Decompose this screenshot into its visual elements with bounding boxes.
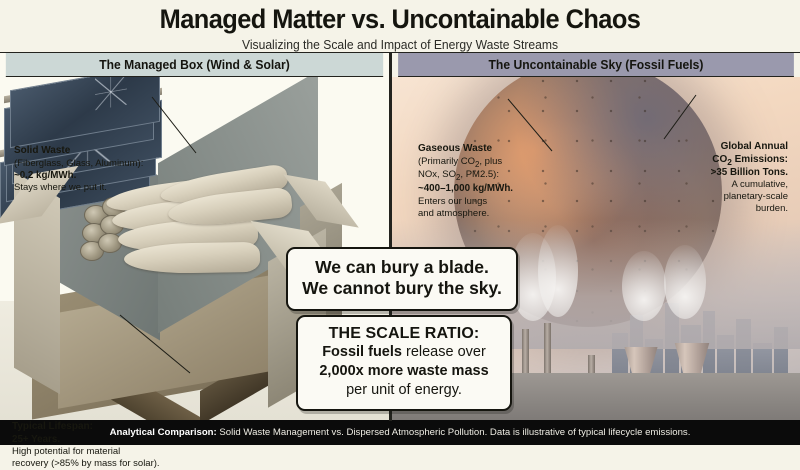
footer-text: Solid Waste Management vs. Dispersed Atm… — [217, 427, 691, 438]
callout-ratio-line2: 2,000x more waste mass — [306, 362, 502, 381]
annotation-line-part: , plus — [479, 156, 502, 167]
annotation-line: (Fiberglass, Glass, Aluminum): — [14, 158, 194, 170]
callout-ratio-line2-bold: 2,000x more waste mass — [319, 363, 488, 379]
annotation-heading: Typical Lifespan: — [12, 421, 227, 434]
annotation-line: Stays where we put it. — [14, 182, 194, 194]
title-block: Managed Matter vs. Uncontainable Chaos V… — [0, 0, 800, 52]
annotation-line: Enters our lungs — [418, 196, 568, 208]
callout-ratio-title: THE SCALE RATIO: — [306, 325, 502, 343]
annotation-line-part: NOx, SO — [418, 169, 456, 180]
callout-quote-line1: We can bury a blade. — [294, 257, 510, 278]
annotation-gaseous-waste: Gaseous Waste (Primarily CO2, plus NOx, … — [418, 143, 568, 220]
annotation-heading: CO2 Emissions: — [648, 154, 788, 167]
annotation-value: >35 Billion Tons. — [648, 167, 788, 179]
annotation-line-part: CO — [712, 154, 727, 165]
callout-scale-ratio: THE SCALE RATIO: Fossil fuels release ov… — [296, 315, 512, 411]
annotation-value: ~0.2 kg/MWh. — [14, 170, 194, 182]
callout-quote: We can bury a blade. We cannot bury the … — [286, 247, 518, 311]
comparison-panels: The Managed Box (Wind & Solar) — [0, 52, 800, 420]
annotation-line: A cumulative, — [648, 179, 788, 191]
annotation-value: ~400–1,000 kg/MWh. — [418, 183, 568, 195]
leader-lifespan — [120, 315, 190, 373]
annotation-lifespan: Typical Lifespan: 25+ Years. High potent… — [12, 421, 227, 470]
annotation-heading: Solid Waste — [14, 145, 194, 158]
callout-ratio-line1-bold: Fossil fuels — [322, 344, 402, 360]
page-subtitle: Visualizing the Scale and Impact of Ener… — [12, 38, 788, 52]
annotation-line: and atmosphere. — [418, 208, 568, 220]
annotation-line: recovery (>85% by mass for solar). — [12, 458, 227, 470]
annotation-value: 25+ Years. — [12, 434, 227, 446]
annotation-line: High potential for material — [12, 446, 227, 458]
annotation-heading: Gaseous Waste — [418, 143, 568, 156]
callout-ratio-line1-rest: release over — [402, 344, 486, 360]
leader-global-emissions — [664, 95, 696, 139]
annotation-line-part: , PM2.5): — [460, 169, 499, 180]
annotation-global-emissions: Global Annual CO2 Emissions: >35 Billion… — [648, 141, 788, 215]
annotation-line: (Primarily CO2, plus — [418, 156, 568, 170]
annotation-line: NOx, SO2, PM2.5): — [418, 169, 568, 183]
annotation-line: burden. — [648, 203, 788, 215]
callout-quote-line2: We cannot bury the sky. — [294, 278, 510, 299]
annotation-heading: Global Annual — [648, 141, 788, 154]
annotation-line-part: (Primarily CO — [418, 156, 475, 167]
annotation-line: planetary-scale — [648, 191, 788, 203]
callout-ratio-line3: per unit of energy. — [306, 381, 502, 400]
annotation-line-part: Emissions: — [732, 154, 788, 165]
annotation-solid-waste: Solid Waste (Fiberglass, Glass, Aluminum… — [14, 145, 194, 194]
callout-ratio-line1: Fossil fuels release over — [306, 343, 502, 362]
page-title: Managed Matter vs. Uncontainable Chaos — [24, 0, 776, 33]
